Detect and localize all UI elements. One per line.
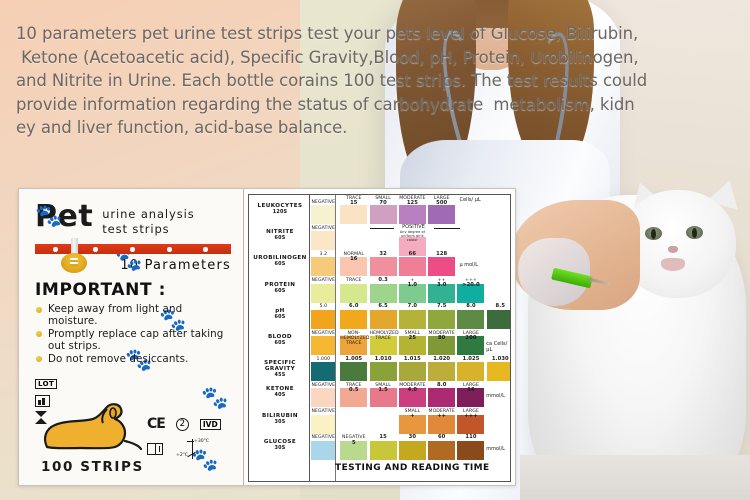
color-swatch (340, 205, 367, 224)
warning-item: Promptly replace cap after taking out st… (35, 328, 231, 353)
analyte-time: 60S (249, 235, 311, 241)
color-swatch (428, 310, 455, 329)
color-swatch-label: 32 (370, 252, 397, 257)
chart-footer-label: TESTING AND READING TIME (310, 463, 511, 473)
analyte-name-glucose: GLUCOSE30S (249, 439, 311, 451)
color-swatch-label: LARGE16 (457, 383, 484, 393)
color-swatch-label: +1.0 (399, 278, 426, 288)
color-swatch-label: ++3.0 (428, 278, 455, 288)
color-swatch (340, 310, 367, 329)
headline-line-2: Ketone (Acetoacetic acid), Specific Grav… (16, 46, 734, 70)
negative-swatch (311, 257, 335, 276)
color-swatch (370, 441, 397, 460)
color-swatch (370, 310, 397, 329)
color-swatch (428, 257, 455, 276)
brand-subtitle-line1: urine analysis (102, 207, 194, 222)
color-swatch-label: 110 (457, 435, 484, 440)
negative-swatch (311, 415, 335, 434)
color-swatch-label: LARGE200 (457, 331, 484, 341)
color-swatch (428, 362, 455, 381)
color-swatch-label: 1.030 (487, 357, 511, 362)
negative-swatch-label: NEGATIVE (311, 200, 335, 205)
color-swatch (428, 205, 455, 224)
analyte-time: 120S (249, 209, 311, 215)
instructions-icon (147, 443, 163, 455)
color-swatch (399, 441, 426, 460)
analyte-name-bilirubin: BILIRUBIN30S (249, 413, 311, 425)
negative-swatch-label: NEGATIVE (311, 435, 335, 440)
color-swatch-label: 1.005 (340, 357, 367, 362)
color-swatch (370, 284, 397, 303)
analyte-time: 60S (249, 314, 311, 320)
analyte-time: 45S (249, 372, 311, 378)
color-swatch-label: 7.0 (399, 304, 426, 309)
positive-note: Any degree of uniform pink colour (399, 231, 426, 242)
negative-swatch-label: NEGATIVE (311, 383, 335, 388)
analyte-name-protein: PROTEIN60S (249, 282, 311, 294)
color-swatch-label: SMALL+ (399, 409, 426, 419)
analyte-time: 60S (249, 288, 311, 294)
color-swatch (340, 284, 367, 303)
temperature-range-icon: +30℃ +2℃ (176, 439, 210, 459)
color-swatch-label: TRACE (340, 278, 367, 283)
product-label-card: 🐾 🐾 🐾 🐾 🐾 🐾 Pet urine analysis test stri… (18, 188, 516, 486)
negative-swatch-label: NEGATIVE (311, 278, 335, 283)
color-swatch (487, 310, 511, 329)
strip-pad (203, 247, 208, 252)
analyte-name-column: LEUKOCYTES120SNITRITE60SUROBILINOGEN60SP… (248, 194, 309, 482)
color-swatch-label: 128 (428, 252, 455, 257)
color-swatch-label: MODERATE80 (428, 331, 455, 341)
table-surface (520, 455, 750, 500)
cat-mouth (661, 258, 685, 271)
strip-pad (167, 247, 172, 252)
analyte-label: SPECIFIC GRAVITY (249, 360, 311, 372)
row-unit-label: μ mol/L (459, 262, 478, 268)
negative-swatch-label: 5.0 (311, 304, 335, 309)
headline-line-5: ey and liver function, acid-base balance… (16, 116, 734, 140)
paw-print-icon: 🐾 (35, 203, 62, 229)
color-swatch (487, 362, 511, 381)
color-swatch-label: SMALL1.5 (370, 383, 397, 393)
negative-swatch-label: NEGATIVE (311, 226, 335, 231)
color-swatch-label: 7.5 (428, 304, 455, 309)
analyte-name-specific-gravity: SPECIFIC GRAVITY45S (249, 360, 311, 378)
negative-swatch (311, 284, 335, 303)
color-swatch-label: 6.0 (340, 304, 367, 309)
negative-swatch (311, 310, 335, 329)
color-swatch (428, 388, 455, 407)
color-swatch-label: NEGATIVE5 (340, 435, 367, 445)
color-swatch-label: 66 (399, 252, 426, 257)
analyte-time: 30S (249, 445, 311, 451)
color-swatch-grid: TESTING AND READING TIME NEGATIVETRACE15… (309, 194, 511, 482)
warning-item: Do not remove desiccants. (35, 353, 231, 365)
dog-logo-wrap: 100 STRIPS (41, 401, 145, 475)
row-unit-label: mmol/L (486, 446, 505, 452)
color-swatch (399, 362, 426, 381)
negative-swatch (311, 441, 335, 460)
color-swatch (399, 257, 426, 276)
analyte-time: 40S (249, 392, 311, 398)
certification-row-2: +30℃ +2℃ (147, 439, 241, 459)
color-swatch (457, 362, 484, 381)
ce-mark-icon: CE (147, 416, 165, 432)
paw-print-icon: 🐾 (201, 385, 228, 411)
color-swatch-label: 8.0 (457, 304, 484, 309)
negative-swatch (311, 336, 335, 355)
negative-swatch (311, 231, 335, 250)
color-swatch (370, 257, 397, 276)
color-swatch-label: MODERATE++ (428, 409, 455, 419)
color-swatch-label: 8.5 (487, 304, 511, 309)
negative-swatch-label: 1.000 (311, 357, 335, 362)
color-swatch-label: 1.020 (428, 357, 455, 362)
strip-pad (93, 247, 98, 252)
analyte-time: 60S (249, 261, 311, 267)
analyte-time: 30S (249, 419, 311, 425)
color-swatch-label: MODERATE4.0 (399, 383, 426, 393)
warning-item: Keep away from light and moisture. (35, 303, 231, 328)
label-panel: 🐾 🐾 🐾 🐾 🐾 🐾 Pet urine analysis test stri… (19, 189, 243, 485)
temp-low-label: +2℃ (176, 453, 188, 458)
cat-pupil-left (651, 229, 656, 239)
color-swatch-label: NORMAL16 (340, 252, 367, 262)
analyte-name-blood: BLOOD60S (249, 334, 311, 346)
brand-subtitle: urine analysis test strips (102, 203, 194, 237)
color-comparison-chart: LEUKOCYTES120SNITRITE60SUROBILINOGEN60SP… (243, 189, 515, 485)
row-unit-label: mmol/L (486, 393, 505, 399)
analyte-name-ketone: KETONE40S (249, 386, 311, 398)
positive-arrow-right (434, 228, 460, 229)
negative-swatch (311, 205, 335, 224)
color-swatch-label: 1.015 (399, 357, 426, 362)
analyte-time: 60S (249, 340, 311, 346)
analyte-name-ph: pH60S (249, 308, 311, 320)
color-swatch (399, 205, 426, 224)
color-swatch (457, 441, 484, 460)
analyte-name-leukocytes: LEUKOCYTES120S (249, 203, 311, 215)
color-swatch-label: 6.5 (370, 304, 397, 309)
color-swatch (457, 310, 484, 329)
headline-line-4: provide information regarding the status… (16, 93, 734, 117)
analyte-name-nitrite: NITRITE60S (249, 229, 311, 241)
brand-subtitle-line2: test strips (102, 222, 194, 237)
certification-area: CE 2 IVD +30℃ +2℃ (147, 416, 241, 459)
strip-pad (130, 247, 135, 252)
color-swatch-label: NON-HEMOLYZED TRACE (340, 331, 367, 347)
dog-icon (41, 401, 145, 453)
color-swatch-label: LARGE+++ (457, 409, 484, 419)
color-swatch-label: TRACE0.5 (340, 383, 367, 393)
swatch-unit: Cells/ μL (459, 197, 480, 203)
temp-tick-high (187, 441, 194, 442)
color-swatch-label: 1.025 (457, 357, 484, 362)
negative-swatch-label: NEGATIVE (311, 409, 335, 414)
color-swatch-label: 60 (428, 435, 455, 440)
color-swatch-label: 8.0 (428, 383, 455, 388)
negative-swatch (311, 388, 335, 407)
test-strip-graphic (35, 244, 231, 254)
color-swatch (370, 362, 397, 381)
temp-high-label: +30℃ (194, 439, 209, 444)
strips-count-label: 100 STRIPS (41, 459, 145, 475)
ivd-icon: IVD (200, 419, 221, 430)
row-unit-label: ca Cells/ μL (486, 341, 510, 353)
color-swatch (428, 441, 455, 460)
do-not-reuse-icon: 2 (176, 418, 189, 431)
lot-icon: LOT (35, 379, 57, 389)
negative-swatch-label: 3.2 (311, 252, 335, 257)
negative-swatch (311, 362, 335, 381)
headline-line-3: and Nitrite in Urine. Each bottle corain… (16, 69, 734, 93)
certification-row-1: CE 2 IVD (147, 416, 241, 432)
color-swatch (340, 362, 367, 381)
cat-nose (668, 246, 678, 253)
positive-arrow-left (370, 228, 394, 229)
color-swatch-label: +++>20.0 (457, 278, 484, 288)
color-swatch-label: SMALL25 (399, 331, 426, 341)
color-swatch-label: 15 (370, 435, 397, 440)
brand-row: Pet urine analysis test strips (35, 203, 231, 237)
important-heading: IMPORTANT : (35, 280, 231, 300)
color-swatch-label: 1.010 (370, 357, 397, 362)
headline-text: 10 parameters pet urine test strips test… (0, 22, 750, 140)
color-swatch (399, 310, 426, 329)
negative-swatch-label: NEGATIVE (311, 331, 335, 336)
color-swatch-label: 30 (399, 435, 426, 440)
color-swatch-label: HEMOLYZED TRACE (370, 331, 397, 341)
warning-list: Keep away from light and moisture. Promp… (35, 303, 231, 365)
analyte-name-urobilinogen: UROBILINOGEN60S (249, 255, 311, 267)
bottle-cap-icon (61, 253, 87, 273)
strip-pad (53, 247, 58, 252)
cat-pupil-right (692, 228, 697, 238)
headline-line-1: 10 parameters pet urine test strips test… (16, 22, 734, 46)
color-swatch-label: 0.3 (370, 278, 397, 283)
color-swatch (370, 205, 397, 224)
